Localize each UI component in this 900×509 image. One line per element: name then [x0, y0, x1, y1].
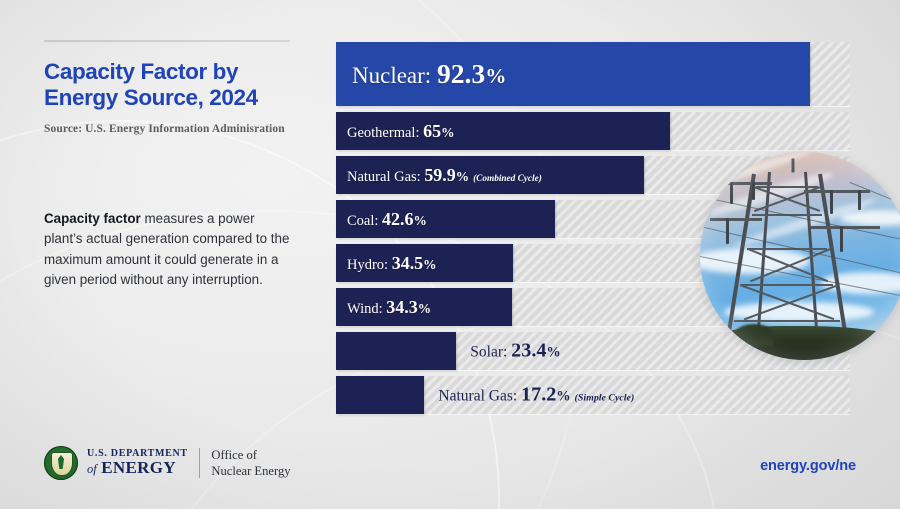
bar-label: Wind: 34.3%: [336, 297, 431, 318]
bar-label: Coal: 42.6%: [336, 209, 427, 230]
bar-fill[interactable]: Nuclear: 92.3%: [336, 42, 810, 106]
bar-track: Geothermal: 65%: [336, 112, 850, 150]
doe-seal-icon: [44, 446, 78, 480]
definition-text: Capacity factor measures a power plant’s…: [44, 209, 294, 291]
infographic-canvas: Capacity Factor by Energy Source, 2024 S…: [0, 0, 900, 509]
bar-label: Natural Gas: 17.2%(Simple Cycle): [438, 384, 634, 407]
chart-row: Geothermal: 65%: [336, 112, 850, 150]
definition-lead: Capacity factor: [44, 211, 141, 226]
bar-label-name: Natural Gas:: [438, 388, 517, 405]
office-name: Office of Nuclear Energy: [211, 447, 290, 479]
page-title-line1: Capacity Factor by: [44, 59, 238, 84]
bar-value: 59.9: [424, 165, 455, 185]
bar-label: Geothermal: 65%: [336, 121, 454, 142]
page-title: Capacity Factor by Energy Source, 2024: [44, 59, 312, 112]
bar-percent-symbol: %: [546, 345, 560, 361]
bar-percent-symbol: %: [441, 125, 454, 140]
bar-label-name: Coal:: [347, 213, 378, 229]
bar-label-name: Natural Gas:: [347, 169, 421, 185]
bar-percent-symbol: %: [485, 64, 506, 88]
bar-label-name: Solar:: [470, 344, 507, 361]
bar-percent-symbol: %: [556, 389, 570, 405]
bar-percent-symbol: %: [414, 213, 427, 228]
doe-energy-line: of ENERGY: [87, 459, 188, 476]
bar-track: Nuclear: 92.3%: [336, 42, 850, 106]
bar-label-name: Hydro:: [347, 257, 388, 273]
page-title-line2: Energy Source, 2024: [44, 85, 258, 110]
website-url[interactable]: energy.gov/ne: [760, 458, 856, 474]
bar-label: Hydro: 34.5%: [336, 253, 437, 274]
bar-fill[interactable]: [336, 376, 424, 414]
office-line2: Nuclear Energy: [211, 463, 290, 479]
bar-percent-symbol: %: [418, 301, 431, 316]
bar-value: 34.5: [392, 253, 423, 273]
bar-label-name: Nuclear:: [352, 63, 431, 88]
header-panel: Capacity Factor by Energy Source, 2024 S…: [44, 40, 312, 135]
bar-label: Natural Gas: 59.9%(Combined Cycle): [336, 165, 542, 186]
source-citation: Source: U.S. Energy Information Adminisr…: [44, 123, 312, 135]
doe-of-word: of: [87, 462, 97, 476]
office-line1: Office of: [211, 447, 290, 463]
bar-label-name: Wind:: [347, 301, 383, 317]
doe-logo: U.S. DEPARTMENT of ENERGY Office of Nucl…: [44, 446, 291, 480]
bar-value: 17.2: [521, 384, 556, 406]
bar-value: 34.3: [386, 297, 417, 317]
bar-fill[interactable]: Natural Gas: 59.9%(Combined Cycle): [336, 156, 644, 194]
photo-edge-glow: [700, 152, 900, 360]
bar-label: Solar: 23.4%: [470, 340, 560, 363]
bar-note: (Combined Cycle): [469, 174, 542, 184]
title-divider: [44, 40, 290, 42]
bar-track: Natural Gas: 17.2%(Simple Cycle): [336, 376, 850, 414]
bar-fill[interactable]: Coal: 42.6%: [336, 200, 555, 238]
chart-row: Nuclear: 92.3%: [336, 42, 850, 106]
doe-energy-word: ENERGY: [101, 458, 176, 477]
bar-value: 92.3: [437, 58, 485, 89]
bar-fill[interactable]: Hydro: 34.5%: [336, 244, 513, 282]
bar-value: 42.6: [382, 209, 413, 229]
bar-fill[interactable]: Wind: 34.3%: [336, 288, 512, 326]
bar-note: (Simple Cycle): [571, 393, 635, 404]
bar-fill[interactable]: [336, 332, 456, 370]
logo-divider: [199, 448, 201, 478]
transmission-tower-photo: [700, 152, 900, 360]
doe-wordmark: U.S. DEPARTMENT of ENERGY: [87, 449, 188, 477]
chart-row: Natural Gas: 17.2%(Simple Cycle): [336, 376, 850, 414]
bar-value: 23.4: [511, 340, 546, 362]
bar-fill[interactable]: Geothermal: 65%: [336, 112, 670, 150]
bar-percent-symbol: %: [456, 169, 469, 184]
bar-value: 65: [423, 121, 441, 141]
bar-percent-symbol: %: [423, 257, 436, 272]
bar-label: Nuclear: 92.3%: [336, 58, 506, 90]
bar-label-name: Geothermal:: [347, 125, 419, 141]
